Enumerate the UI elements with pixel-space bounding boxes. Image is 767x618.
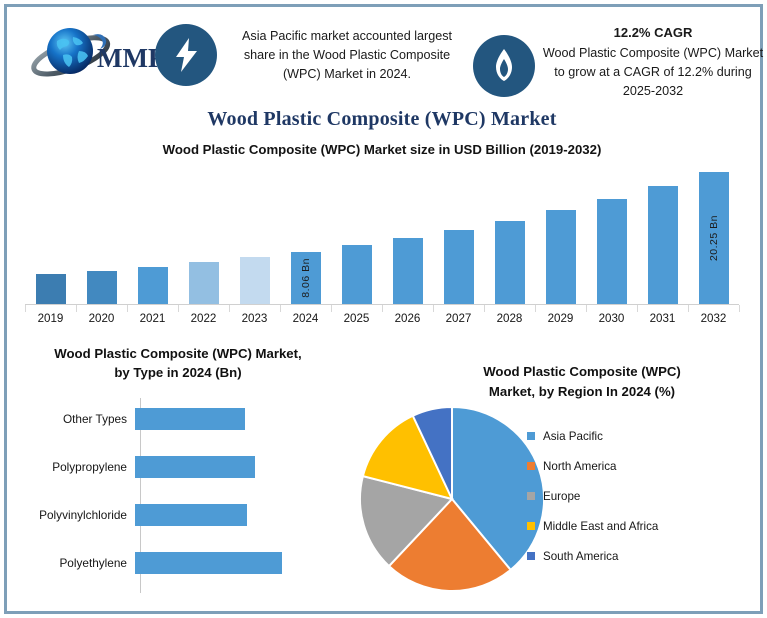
region-chart-title-line1: Wood Plastic Composite (WPC): [407, 362, 757, 382]
x-tick-mark: [229, 305, 230, 312]
pie-legend: Asia PacificNorth AmericaEuropeMiddle Ea…: [527, 426, 757, 576]
legend-label: Middle East and Africa: [543, 520, 658, 533]
type-bar-row: Polypropylene: [7, 456, 347, 478]
type-chart-title: Wood Plastic Composite (WPC) Market, by …: [13, 344, 343, 382]
bar-column: [433, 164, 484, 304]
bar-column: [382, 164, 433, 304]
bar-2028: [495, 221, 525, 304]
bar-column: [76, 164, 127, 304]
bar-2021: [138, 267, 168, 304]
bar-column: [127, 164, 178, 304]
type-bar-row: Polyethylene: [7, 552, 347, 574]
bar-chart-plot-area: 8.06 Bn20.25 Bn: [25, 164, 739, 304]
market-by-type-bar-chart: Wood Plastic Composite (WPC) Market, by …: [7, 338, 347, 610]
x-tick-mark: [739, 305, 740, 312]
type-label-polypropylene: Polypropylene: [7, 460, 135, 474]
bar-2031: [648, 186, 678, 304]
x-tick-2027: 2027: [433, 312, 484, 325]
x-tick-mark: [331, 305, 332, 312]
x-tick-mark: [688, 305, 689, 312]
x-tick-2031: 2031: [637, 312, 688, 325]
bar-2025: [342, 245, 372, 304]
bar-2030: [597, 199, 627, 304]
market-size-bar-chart: Wood Plastic Composite (WPC) Market size…: [7, 136, 757, 334]
bar-2032: 20.25 Bn: [699, 172, 729, 304]
bar-2026: [393, 238, 423, 304]
type-bar-polypropylene: [135, 456, 255, 478]
legend-label: North America: [543, 460, 616, 473]
bar-2022: [189, 262, 219, 304]
bar-2020: [87, 271, 117, 304]
type-chart-title-line1: Wood Plastic Composite (WPC) Market,: [13, 344, 343, 363]
x-tick-mark: [25, 305, 26, 312]
x-tick-2019: 2019: [25, 312, 76, 325]
legend-label: Europe: [543, 490, 580, 503]
type-bar-polyvinylchloride: [135, 504, 247, 526]
cagr-detail: Wood Plastic Composite (WPC) Market to g…: [543, 46, 763, 98]
pie-svg: [357, 404, 547, 594]
bar-column: [535, 164, 586, 304]
type-label-polyethylene: Polyethylene: [7, 556, 135, 570]
flame-icon: [473, 35, 535, 97]
bar-chart-x-tick-labels: 2019202020212022202320242025202620272028…: [25, 305, 739, 333]
bar-2023: [240, 257, 270, 304]
x-tick-mark: [484, 305, 485, 312]
x-tick-mark: [637, 305, 638, 312]
x-tick-mark: [382, 305, 383, 312]
legend-swatch-icon: [527, 552, 535, 560]
legend-swatch-icon: [527, 432, 535, 440]
bar-2027: [444, 230, 474, 304]
bar-column: 8.06 Bn: [280, 164, 331, 304]
type-bar-polyethylene: [135, 552, 282, 574]
bar-column: [484, 164, 535, 304]
header-highlight-text: Asia Pacific market accounted largest sh…: [225, 27, 469, 84]
type-label-other-types: Other Types: [7, 412, 135, 426]
x-tick-mark: [280, 305, 281, 312]
x-tick-2032: 2032: [688, 312, 739, 325]
legend-swatch-icon: [527, 492, 535, 500]
legend-item-asia-pacific: Asia Pacific: [527, 426, 757, 446]
x-tick-2022: 2022: [178, 312, 229, 325]
legend-label: South America: [543, 550, 618, 563]
x-tick-2020: 2020: [76, 312, 127, 325]
infographic-root: MMR Asia Pacific market accounted larges…: [0, 0, 767, 618]
x-tick-2024: 2024: [280, 312, 331, 325]
region-chart-title: Wood Plastic Composite (WPC) Market, by …: [407, 362, 757, 402]
x-tick-mark: [433, 305, 434, 312]
lightning-bolt-icon: [155, 24, 217, 86]
svg-text:MMR: MMR: [97, 43, 160, 73]
bar-column: [637, 164, 688, 304]
x-tick-2026: 2026: [382, 312, 433, 325]
legend-item-south-america: South America: [527, 546, 757, 566]
x-tick-2025: 2025: [331, 312, 382, 325]
legend-swatch-icon: [527, 462, 535, 470]
type-chart-title-line2: by Type in 2024 (Bn): [13, 363, 343, 382]
x-tick-2021: 2021: [127, 312, 178, 325]
x-tick-mark: [76, 305, 77, 312]
legend-swatch-icon: [527, 522, 535, 530]
x-tick-mark: [586, 305, 587, 312]
cagr-value: 12.2% CAGR: [537, 23, 767, 42]
page-title: Wood Plastic Composite (WPC) Market: [7, 108, 757, 131]
bar-2019: [36, 274, 66, 304]
legend-item-north-america: North America: [527, 456, 757, 476]
legend-item-europe: Europe: [527, 486, 757, 506]
header-cagr-block: 12.2% CAGR Wood Plastic Composite (WPC) …: [537, 23, 767, 101]
bar-chart-title: Wood Plastic Composite (WPC) Market size…: [7, 142, 757, 157]
bar-column: [229, 164, 280, 304]
type-bar-row: Other Types: [7, 408, 347, 430]
bar-column: [178, 164, 229, 304]
legend-item-middle-east-and-africa: Middle East and Africa: [527, 516, 757, 536]
bar-column: [331, 164, 382, 304]
bar-value-label: 8.06 Bn: [300, 258, 312, 298]
x-tick-mark: [178, 305, 179, 312]
bar-2024: 8.06 Bn: [291, 252, 321, 304]
bar-column: 20.25 Bn: [688, 164, 739, 304]
x-tick-mark: [127, 305, 128, 312]
region-chart-title-line2: Market, by Region In 2024 (%): [407, 382, 757, 402]
x-tick-2028: 2028: [484, 312, 535, 325]
legend-label: Asia Pacific: [543, 430, 603, 443]
bar-column: [25, 164, 76, 304]
market-by-region-pie-chart: Wood Plastic Composite (WPC) Market, by …: [347, 360, 759, 612]
pie-graphic: [357, 404, 547, 599]
type-label-polyvinylchloride: Polyvinylchloride: [7, 508, 135, 522]
header-band: MMR Asia Pacific market accounted larges…: [7, 7, 757, 105]
x-tick-2029: 2029: [535, 312, 586, 325]
x-tick-2030: 2030: [586, 312, 637, 325]
x-tick-2023: 2023: [229, 312, 280, 325]
mmr-logo: MMR: [25, 23, 160, 85]
x-tick-mark: [535, 305, 536, 312]
type-bar-other-types: [135, 408, 245, 430]
type-bar-row: Polyvinylchloride: [7, 504, 347, 526]
bar-column: [586, 164, 637, 304]
bar-2029: [546, 210, 576, 304]
bar-value-label: 20.25 Bn: [708, 215, 720, 261]
